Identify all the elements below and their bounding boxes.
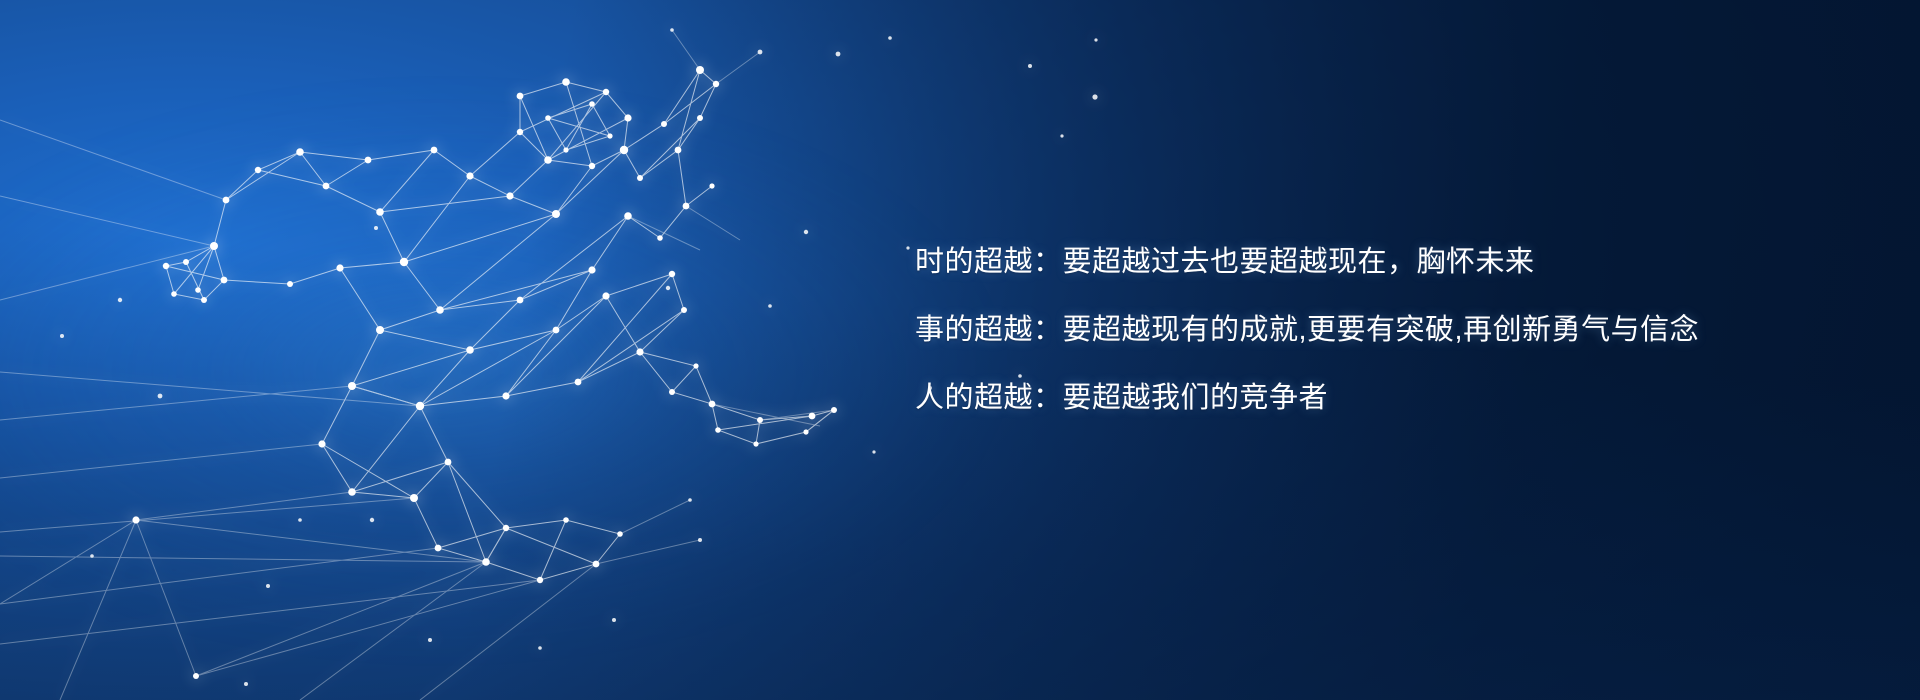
tagline-time: 时的超越：要超越过去也要超越现在，胸怀未来: [915, 228, 1815, 296]
hero-banner: 时的超越：要超越过去也要超越现在，胸怀未来 事的超越：要超越现有的成就,更要有突…: [0, 0, 1920, 700]
network-edges: [0, 30, 834, 700]
tagline-matter: 事的超越：要超越现有的成就,更要有突破,再创新勇气与信念: [915, 296, 1815, 364]
tagline-people: 人的超越：要超越我们的竞争者: [915, 364, 1815, 432]
tagline-block: 时的超越：要超越过去也要超越现在，胸怀未来 事的超越：要超越现有的成就,更要有突…: [915, 228, 1815, 432]
